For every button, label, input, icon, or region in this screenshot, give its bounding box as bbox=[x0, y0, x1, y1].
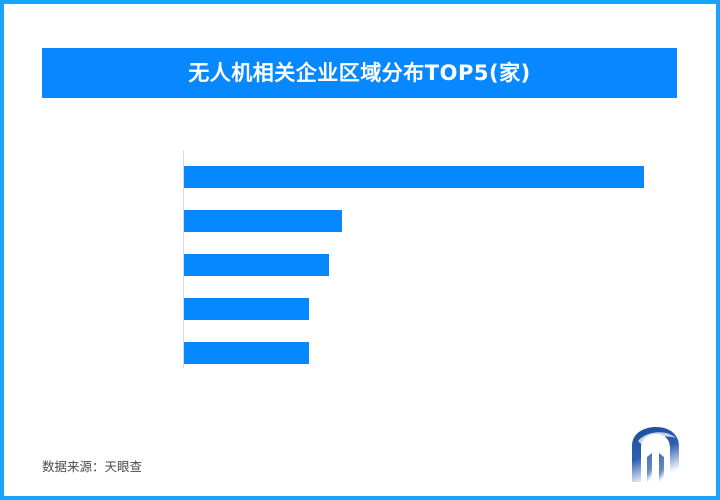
bar-1[interactable] bbox=[184, 166, 644, 188]
chinanews-logo bbox=[626, 424, 688, 486]
bar-2[interactable] bbox=[184, 210, 342, 232]
bar-5[interactable] bbox=[184, 342, 309, 364]
chart-card: 无人机相关企业区域分布TOP5(家) 广东省安徽省山东省湖南省江苏省 数据来源：… bbox=[0, 0, 720, 500]
bar-3[interactable] bbox=[184, 254, 329, 276]
data-source-label: 数据来源：天眼查 bbox=[42, 456, 142, 475]
bar-4[interactable] bbox=[184, 298, 309, 320]
bar-chart: 广东省安徽省山东省湖南省江苏省 bbox=[4, 4, 720, 500]
